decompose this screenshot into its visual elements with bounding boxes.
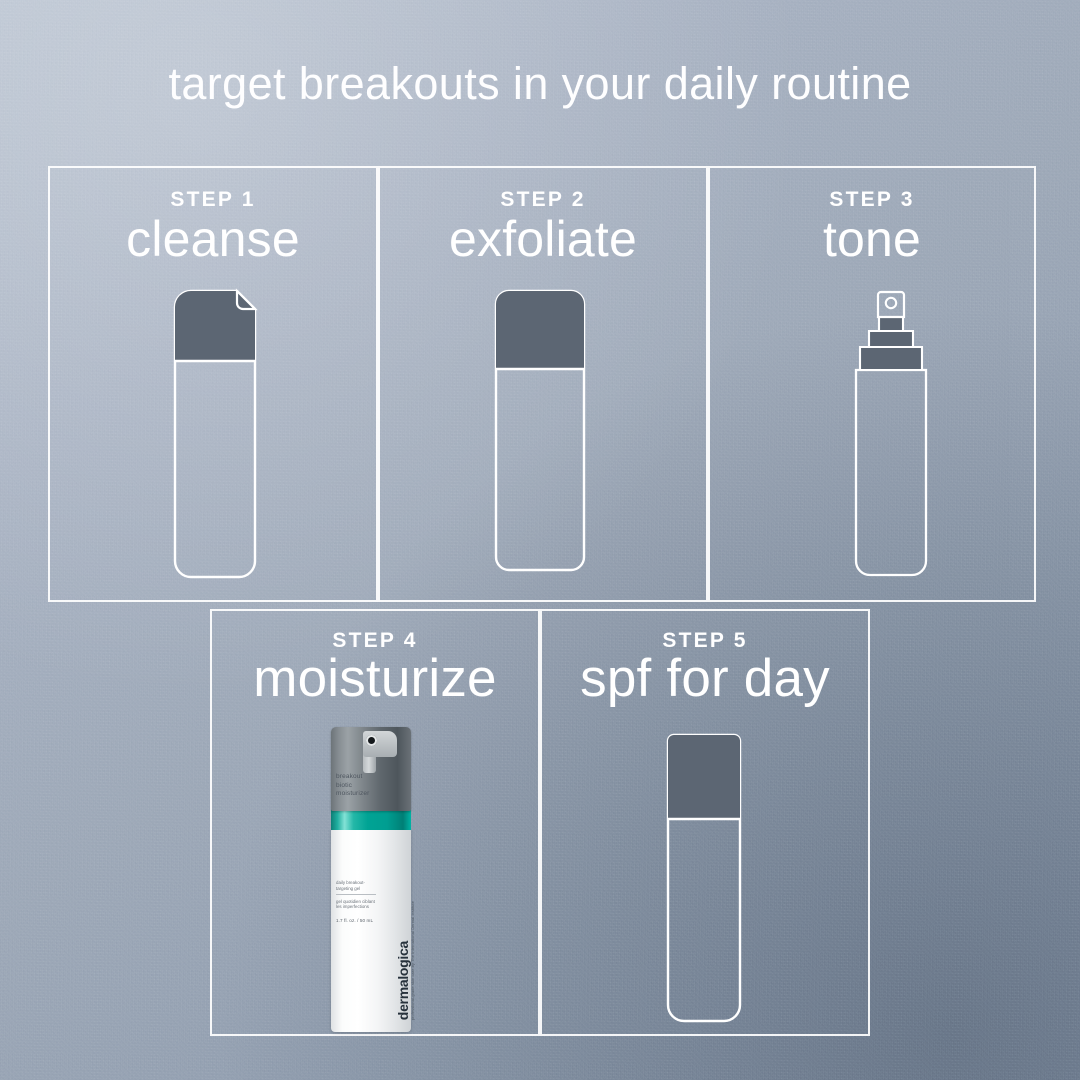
step-2-name: exfoliate: [378, 210, 708, 268]
product-name-line-3: moisturizer: [336, 790, 369, 799]
step-3-number: STEP 3: [708, 188, 1036, 212]
product-descriptor-block: daily breakout- targeting gel gel quotid…: [336, 880, 376, 910]
spray-mist-bottle-outline-icon: [851, 291, 931, 579]
step-4-name: moisturize: [210, 648, 540, 709]
step-5-name: spf for day: [540, 648, 870, 709]
step-3-name: tone: [708, 210, 1036, 268]
poster-canvas: target breakouts in your daily routine S…: [0, 0, 1080, 1080]
step-2-number: STEP 2: [378, 188, 708, 212]
airless-pump-bottle-photo: breakout biotic moisturizer daily breako…: [325, 727, 417, 1032]
bottle-teal-band: [331, 809, 411, 830]
brand-tagline: professional-grade skin care by The Inte…: [411, 901, 415, 1020]
step-1-name: cleanse: [48, 210, 378, 268]
tube-bottle-outline-icon: [173, 289, 257, 579]
descriptor-fr-line-2: les imperfections: [336, 904, 376, 910]
square-jar-outline-icon: [494, 289, 586, 572]
brand-logo-text: dermalogica: [396, 941, 410, 1020]
product-name-line-1: breakout: [336, 773, 369, 782]
pump-dispense-hole: [366, 735, 377, 746]
content-layer: target breakouts in your daily routine S…: [0, 0, 1080, 1080]
descriptor-en-line-2: targeting gel: [336, 886, 376, 892]
page-title: target breakouts in your daily routine: [0, 58, 1080, 110]
product-name-line-2: biotic: [336, 782, 369, 791]
product-volume: 1.7 fl. oz. / 50 mL: [336, 918, 373, 923]
product-name-label: breakout biotic moisturizer: [336, 773, 369, 799]
slim-tube-outline-icon: [665, 733, 743, 1023]
label-divider: [336, 894, 376, 895]
step-1-number: STEP 1: [48, 188, 378, 212]
